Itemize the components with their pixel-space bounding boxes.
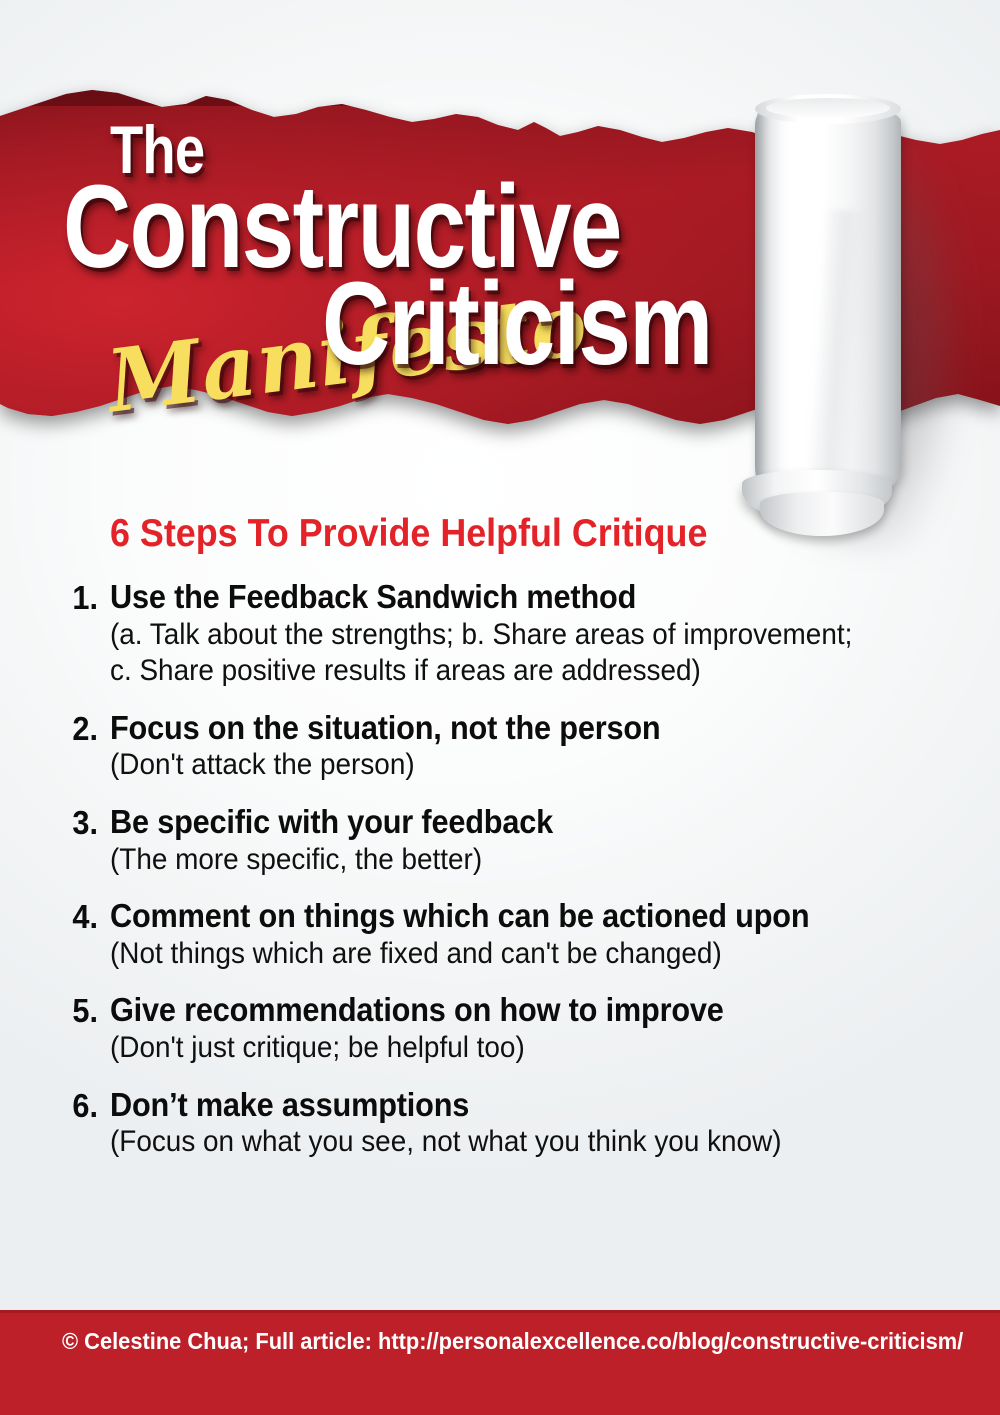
paper-curl-left-shading <box>755 104 781 502</box>
step-subtext-line: (a. Talk about the strengths; b. Share a… <box>110 617 925 654</box>
step-body: Be specific with your feedback (The more… <box>110 803 1000 878</box>
footer-top-divider <box>0 1310 1000 1313</box>
step-title: Be specific with your feedback <box>110 803 925 841</box>
step-subtext: (a. Talk about the strengths; b. Share a… <box>110 617 925 690</box>
step-title: Focus on the situation, not the person <box>110 709 925 747</box>
step-number: 5. <box>44 992 98 1030</box>
step-body: Don’t make assumptions (Focus on what yo… <box>110 1086 1000 1161</box>
step-body: Comment on things which can be actioned … <box>110 897 1000 972</box>
steps-list: 1. Use the Feedback Sandwich method (a. … <box>0 578 1000 1180</box>
list-item: 2. Focus on the situation, not the perso… <box>0 709 1000 784</box>
step-number: 6. <box>44 1087 98 1125</box>
list-item: 3. Be specific with your feedback (The m… <box>0 803 1000 878</box>
step-body: Focus on the situation, not the person (… <box>110 709 1000 784</box>
poster-subtitle: 6 Steps To Provide Helpful Critique <box>110 512 707 556</box>
list-item: 4. Comment on things which can be action… <box>0 897 1000 972</box>
step-subtext: (Focus on what you see, not what you thi… <box>110 1124 925 1161</box>
list-item: 5. Give recommendations on how to improv… <box>0 991 1000 1066</box>
step-number: 4. <box>44 898 98 936</box>
footer-bar: © Celestine Chua; Full article: http://p… <box>0 1310 1000 1415</box>
infographic-poster: The Constructive Manifesto Criticism 6 S… <box>0 0 1000 1415</box>
step-title: Don’t make assumptions <box>110 1086 925 1124</box>
step-title: Use the Feedback Sandwich method <box>110 578 925 616</box>
step-subtext-line: (Don't attack the person) <box>110 747 925 784</box>
step-subtext-line: c. Share positive results if areas are a… <box>110 653 925 690</box>
footer-credit-link[interactable]: © Celestine Chua; Full article: http://p… <box>62 1328 963 1355</box>
paper-curl-illustration <box>718 80 1000 550</box>
step-number: 1. <box>44 579 98 617</box>
step-subtext-line: (The more specific, the better) <box>110 842 925 879</box>
step-body: Use the Feedback Sandwich method (a. Tal… <box>110 578 1000 690</box>
step-number: 3. <box>44 804 98 842</box>
step-subtext-line: (Not things which are fixed and can't be… <box>110 936 925 973</box>
step-subtext-line: (Focus on what you see, not what you thi… <box>110 1124 925 1161</box>
list-item: 6. Don’t make assumptions (Focus on what… <box>0 1086 1000 1161</box>
step-number: 2. <box>44 710 98 748</box>
step-subtext: (Don't just critique; be helpful too) <box>110 1030 925 1067</box>
step-subtext: (Don't attack the person) <box>110 747 925 784</box>
step-title: Comment on things which can be actioned … <box>110 897 925 935</box>
list-item: 1. Use the Feedback Sandwich method (a. … <box>0 578 1000 690</box>
paper-curl-top-inner <box>766 98 890 118</box>
step-body: Give recommendations on how to improve (… <box>110 991 1000 1066</box>
step-subtext: (Not things which are fixed and can't be… <box>110 936 925 973</box>
step-subtext: (The more specific, the better) <box>110 842 925 879</box>
step-title: Give recommendations on how to improve <box>110 991 925 1029</box>
step-subtext-line: (Don't just critique; be helpful too) <box>110 1030 925 1067</box>
